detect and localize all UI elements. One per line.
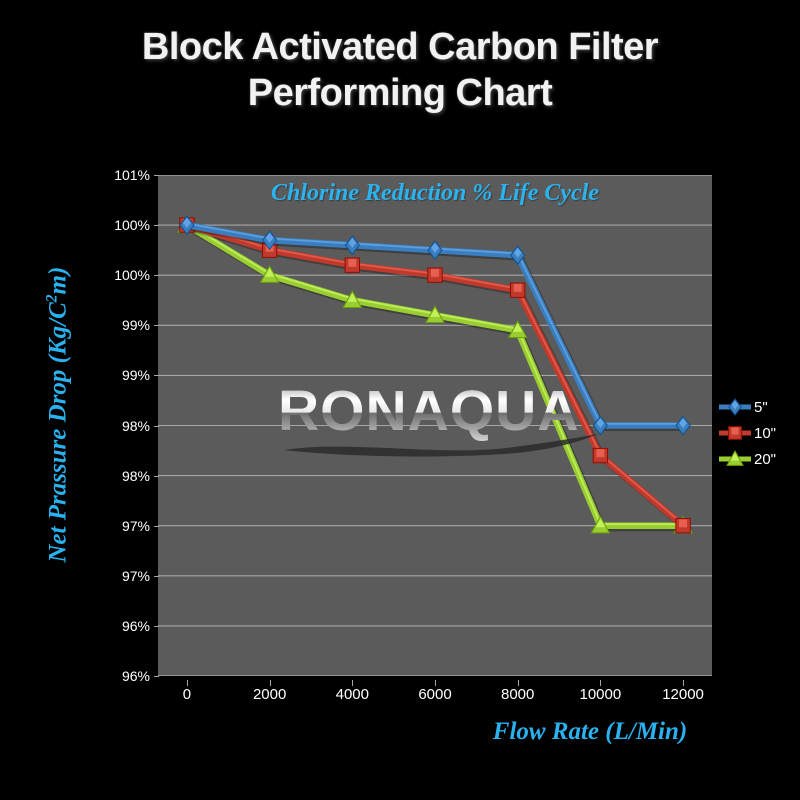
x-tick-label: 12000 (638, 686, 728, 703)
y-axis-title: Net Prassure Drop (Kg/C2m) (43, 205, 72, 625)
y-tick-mark (154, 576, 159, 577)
y-tick-mark (154, 375, 159, 376)
series-layer (178, 216, 692, 533)
legend-item[interactable]: 20" (718, 446, 798, 472)
y-tick-mark (154, 676, 159, 677)
y-tick-mark (154, 325, 159, 326)
x-axis-ticks: 020004000600080001000012000 (158, 686, 712, 708)
legend-item[interactable]: 5" (718, 394, 798, 420)
x-tick-label: 8000 (473, 686, 563, 703)
x-tick-mark (352, 680, 353, 686)
y-tick-label: 96% (92, 619, 150, 633)
y-axis-title-prefix: Net Prassure Drop (Kg/C (45, 302, 72, 562)
legend-item[interactable]: 10" (718, 420, 798, 446)
x-tick-mark (435, 680, 436, 686)
y-tick-mark (154, 626, 159, 627)
y-tick-label: 96% (92, 669, 150, 683)
legend-marker-square-icon (718, 423, 752, 443)
x-tick-label: 2000 (225, 686, 315, 703)
y-tick-label: 100% (92, 268, 150, 282)
chart-canvas (158, 175, 712, 676)
x-tick-label: 4000 (307, 686, 397, 703)
y-tick-label: 97% (92, 569, 150, 583)
legend-marker-triangle-icon (718, 449, 752, 469)
x-tick-mark (270, 680, 271, 686)
y-tick-label: 99% (92, 368, 150, 382)
y-axis-title-superscript: 2 (43, 294, 60, 302)
y-tick-label: 98% (92, 419, 150, 433)
y-axis-ticks: 101%100%100%99%99%98%98%97%97%96%96% (92, 175, 150, 676)
y-tick-label: 101% (92, 168, 150, 182)
chart-legend: 5"10"20" (718, 394, 798, 472)
y-tick-mark (154, 225, 159, 226)
x-tick-mark (187, 680, 188, 686)
y-axis-title-suffix: m) (45, 267, 72, 295)
x-tick-label: 0 (142, 686, 232, 703)
y-tick-label: 100% (92, 218, 150, 232)
data-point-marker-highlight (679, 519, 687, 527)
y-tick-label: 98% (92, 469, 150, 483)
y-tick-mark (154, 275, 159, 276)
x-tick-mark (600, 680, 601, 686)
y-tick-mark (154, 426, 159, 427)
data-point-marker-highlight (348, 259, 356, 267)
x-tick-label: 10000 (555, 686, 645, 703)
data-point-marker-highlight (596, 449, 604, 457)
y-tick-mark (154, 175, 159, 176)
plot-area: RONAQUA Chlorine Reduction % Life Cycle (158, 175, 712, 676)
legend-label: 20" (754, 451, 776, 468)
legend-marker-diamond-icon (718, 397, 752, 417)
page-title: Block Activated Carbon Filter Performing… (0, 24, 800, 116)
y-tick-label: 99% (92, 318, 150, 332)
legend-label: 10" (754, 425, 776, 442)
y-tick-mark (154, 476, 159, 477)
y-tick-mark (154, 526, 159, 527)
y-tick-label: 97% (92, 519, 150, 533)
x-tick-mark (518, 680, 519, 686)
legend-label: 5" (754, 399, 768, 416)
x-tick-label: 6000 (390, 686, 480, 703)
x-axis-title: Flow Rate (L/Min) (420, 718, 760, 746)
data-point-marker-highlight (431, 269, 439, 277)
data-point-marker-highlight (514, 284, 522, 292)
x-tick-mark (683, 680, 684, 686)
series-20in (178, 216, 692, 533)
